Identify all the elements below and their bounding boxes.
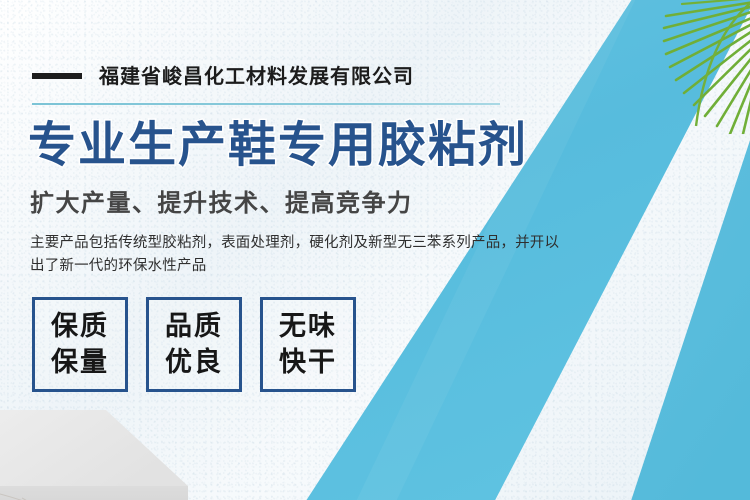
- company-row: 福建省峻昌化工材料发展有限公司: [32, 66, 414, 86]
- badge-line-2: 优良: [165, 345, 223, 381]
- promo-banner: 福建省峻昌化工材料发展有限公司 专业生产鞋专用胶粘剂 扩大产量、提升技术、提高竞…: [0, 0, 750, 500]
- badge-line-1: 保质: [51, 309, 109, 345]
- divider-rule: [32, 103, 500, 105]
- feature-badges: 保质 保量 品质 优良 无味 快干: [32, 297, 356, 392]
- page-title: 专业生产鞋专用胶粘剂: [28, 117, 528, 174]
- feature-badge: 品质 优良: [146, 297, 242, 392]
- dash-icon: [32, 73, 82, 79]
- badge-line-2: 保量: [51, 345, 109, 381]
- company-name: 福建省峻昌化工材料发展有限公司: [99, 66, 414, 86]
- feature-badge: 保质 保量: [32, 297, 128, 392]
- badge-line-1: 品质: [165, 309, 223, 345]
- badge-line-2: 快干: [279, 345, 337, 381]
- description-text: 主要产品包括传统型胶粘剂，表面处理剂，硬化剂及新型无三苯系列产品，并开以出了新一…: [30, 232, 560, 279]
- banner-content: 福建省峻昌化工材料发展有限公司 专业生产鞋专用胶粘剂 扩大产量、提升技术、提高竞…: [0, 0, 750, 500]
- subheadline: 扩大产量、提升技术、提高竞争力: [30, 191, 413, 215]
- feature-badge: 无味 快干: [260, 297, 356, 392]
- badge-line-1: 无味: [279, 309, 337, 345]
